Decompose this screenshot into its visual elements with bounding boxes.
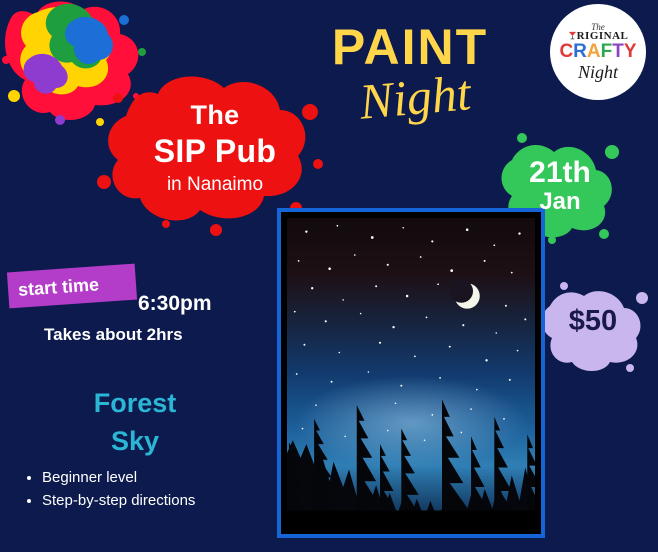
venue-block: The SIP Pub in Nanaimo [120,98,310,200]
artwork-canvas [287,218,535,528]
list-item: Beginner level [42,466,195,489]
event-date-month: Jan [515,188,605,216]
painting-title-line-2: Sky [40,422,230,460]
venue-line-1: The [120,98,310,132]
details-list: Beginner level Step-by-step directions [20,466,195,512]
start-time-value: 6:30pm [138,292,212,316]
venue-line-3: in Nanaimo [120,170,310,200]
list-item: Step-by-step directions [42,489,195,512]
martini-glass-icon [568,31,577,40]
logo-crafty-text: CRAFTY [559,42,636,62]
forest-sky-painting [287,218,535,528]
event-date-day: 21th [515,158,605,188]
painting-title: Forest Sky [40,384,230,460]
paint-night-poster: The SIP Pub in Nanaimo PAINT Night The R… [0,0,658,552]
artwork-frame [277,208,545,538]
logo-night-text: Night [578,62,618,82]
duration-text: Takes about 2hrs [44,325,183,345]
crafty-night-logo: The RIGINAL CRAFTY Night [552,6,644,98]
event-date: 21th Jan [515,158,605,216]
painting-title-line-1: Forest [40,384,230,422]
price-value: $50 [545,305,641,338]
venue-line-2: SIP Pub [120,132,310,170]
